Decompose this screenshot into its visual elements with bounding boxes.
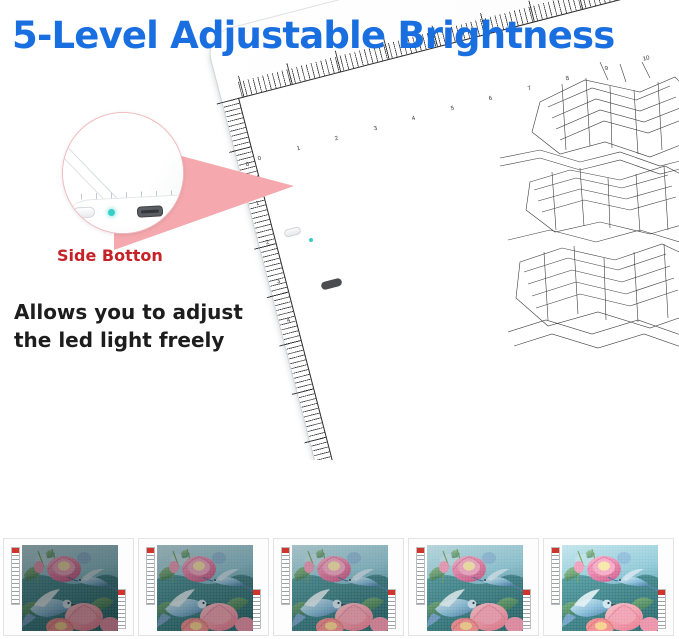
feature-description: Allows you to adjust the led light freel… bbox=[14, 298, 243, 355]
brightness-level-4[interactable] bbox=[408, 538, 539, 636]
usb-c-port bbox=[137, 205, 164, 217]
brightness-level-3[interactable] bbox=[273, 538, 404, 636]
product-feature-graphic: 01234567891001234 bbox=[0, 0, 679, 639]
brightness-level-2[interactable] bbox=[138, 538, 269, 636]
brightness-scale: 0% 100% bbox=[0, 450, 679, 535]
page-title: 5-Level Adjustable Brightness bbox=[12, 14, 614, 57]
thumbnail-artwork bbox=[157, 545, 253, 631]
ruler-tick-label: 3 bbox=[276, 279, 281, 286]
thumbnail-ruler-left bbox=[551, 547, 560, 605]
description-line-1: Allows you to adjust bbox=[14, 298, 243, 326]
brightness-level-thumbnails bbox=[0, 538, 679, 639]
thumbnail-ruler-left bbox=[11, 547, 20, 605]
brightness-level-1[interactable] bbox=[3, 538, 134, 636]
description-line-2: the led light freely bbox=[14, 326, 243, 354]
thumbnail-artwork bbox=[22, 545, 118, 631]
thumbnail-ruler-right bbox=[522, 589, 531, 629]
brightness-level-5[interactable] bbox=[543, 538, 674, 636]
thumbnail-artwork bbox=[292, 545, 388, 631]
thumbnail-artwork bbox=[427, 545, 523, 631]
side-button[interactable] bbox=[73, 206, 96, 218]
usb-c-port-inner bbox=[141, 210, 159, 214]
thumbnail-ruler-right bbox=[387, 589, 396, 629]
side-button-label: Side Botton bbox=[57, 246, 163, 265]
magnifier-callout bbox=[62, 112, 184, 234]
thumbnail-ruler-right bbox=[657, 589, 666, 629]
thumbnail-ruler-left bbox=[146, 547, 155, 605]
thumbnail-ruler-right bbox=[252, 589, 261, 629]
thumbnail-ruler-left bbox=[416, 547, 425, 605]
thumbnail-artwork bbox=[562, 545, 658, 631]
led-indicator-icon bbox=[108, 209, 115, 216]
thumbnail-ruler-left bbox=[281, 547, 290, 605]
thumbnail-ruler-right bbox=[117, 589, 126, 629]
